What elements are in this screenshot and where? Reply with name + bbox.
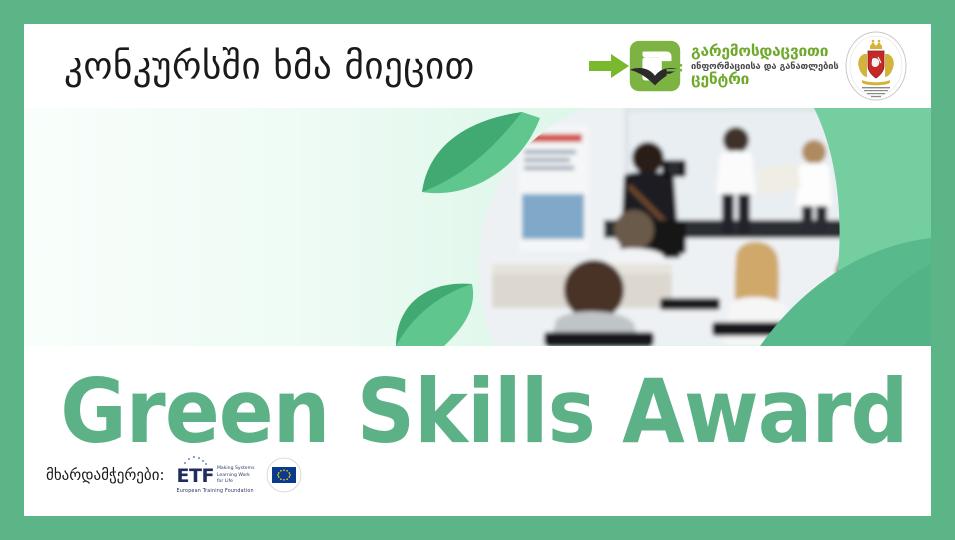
etf-tagline-3: for Life	[217, 479, 255, 485]
poster-canvas: კონკურსში ხმა მიეცით	[24, 24, 931, 516]
supporters-label: მხარდამჭერები:	[46, 466, 165, 484]
etf-wordmark: ETF	[177, 467, 214, 486]
eiec-line-1: გარემოსდაცვითი	[691, 44, 839, 60]
etf-stars-icon	[182, 455, 208, 467]
page-title: Green Skills Award	[60, 368, 894, 456]
georgia-state-emblem-icon	[844, 30, 908, 102]
poster-root: კონკურსში ხმა მიეცით	[0, 0, 955, 540]
right-arrow-icon	[589, 52, 629, 80]
supporters-row: მხარდამჭერები:	[46, 455, 302, 494]
eiec-logo-mark	[624, 35, 686, 97]
headline-text: კონკურსში ხმა მიეცით	[64, 45, 475, 88]
european-union-flag-icon	[266, 457, 302, 493]
etf-tagline-1: Making Systems	[217, 466, 255, 472]
eiec-logo: გარემოსდაცვითი ინფორმაციისა და განათლები…	[624, 35, 839, 97]
header-band: კონკურსში ხმა მიეცით	[24, 24, 931, 108]
etf-full-name: European Training Foundation	[177, 489, 254, 494]
etf-tagline-2: Learning Work	[217, 473, 255, 479]
eiec-line-3: ცენტრი	[691, 72, 839, 88]
title-band: Green Skills Award მხარდამჭერები:	[24, 346, 931, 516]
hero-band	[24, 108, 931, 346]
eiec-logo-wordmark: გარემოსდაცვითი ინფორმაციისა და განათლები…	[691, 44, 839, 87]
etf-logo: ETF Making Systems Learning Work for Lif…	[177, 455, 255, 494]
hero-graphic	[24, 108, 931, 346]
